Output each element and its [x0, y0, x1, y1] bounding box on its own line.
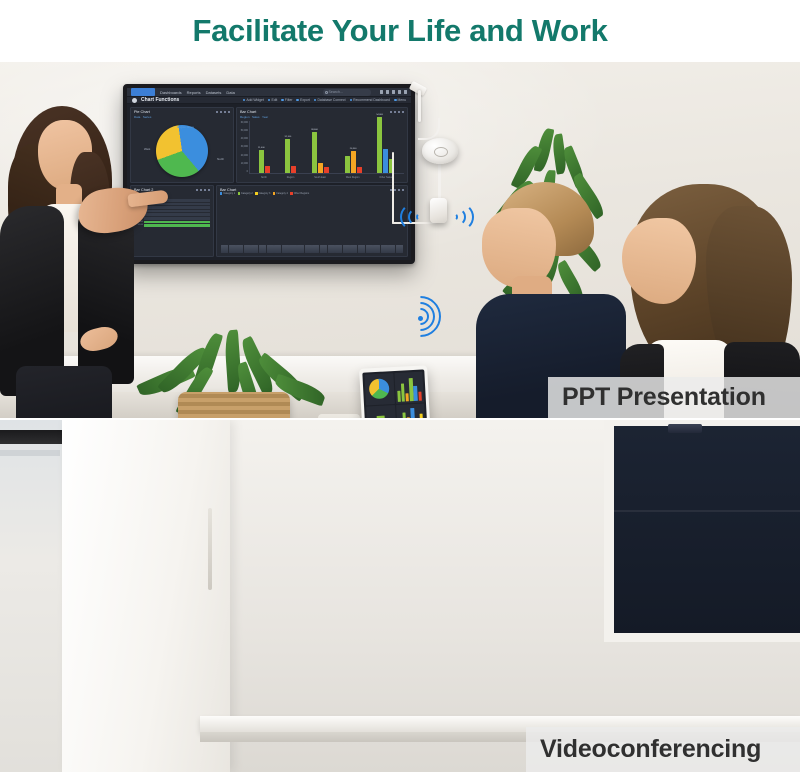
wall-cable-vertical: [392, 152, 394, 224]
pie-annotation: Region Share: [177, 125, 194, 129]
tablet-bars: [396, 375, 422, 402]
tablet-row: [364, 372, 424, 405]
table-row: 30.00: [134, 217, 210, 220]
dashboard-title: Chart Functions: [141, 97, 179, 103]
videoconferencing-caption-text: Videoconferencing: [540, 735, 761, 764]
nav-item-dashboards[interactable]: Dashboards: [160, 90, 182, 95]
toolbar-menu[interactable]: Menu: [394, 98, 406, 102]
dashboard-body: Pie Chart Data Series: [127, 104, 411, 260]
table-cell: [144, 217, 210, 220]
bar-sub-region[interactable]: Region: [240, 115, 250, 119]
ceiling-beam: [0, 430, 66, 444]
xtick-0: North: [261, 176, 267, 179]
bar: 38,600: [312, 132, 317, 173]
bar-value: 20,300: [350, 148, 357, 150]
refresh-icon[interactable]: [390, 111, 392, 113]
bar-group-4: 20,300: [345, 151, 362, 173]
filter-icon[interactable]: [220, 111, 222, 113]
pie-chart-plot: Region Share West North: [131, 119, 233, 182]
dashboard-navbar: Dashboards Reports Datasets Data Search.…: [127, 88, 411, 97]
bar: 21,400: [259, 150, 264, 173]
bar2-card-controls: [196, 189, 210, 191]
toolbar-filter[interactable]: Filter: [281, 98, 292, 102]
bar-value: 32,100: [285, 136, 292, 138]
page-title: Facilitate Your Life and Work: [192, 13, 607, 49]
legend-label: Category 3: [259, 192, 271, 195]
stacked-bar-tick: [381, 245, 388, 253]
stacked-bar-tick: [282, 245, 289, 253]
bar: 32,100: [285, 139, 290, 173]
search-icon: [325, 91, 328, 94]
xtick-1: Region: [287, 176, 295, 179]
product-feature-image: Facilitate Your Life and Work: [0, 0, 800, 772]
toolbar-recommend-label: Recommend Dashboard: [353, 98, 390, 102]
door-handle[interactable]: [208, 508, 212, 590]
bar: 54,800: [377, 117, 382, 173]
filter-icon[interactable]: [394, 111, 396, 113]
xtick-4: Other Sales: [379, 176, 392, 179]
bar-sub-sales[interactable]: Sales: [252, 115, 260, 119]
stacked-bar-tick: [373, 245, 380, 253]
stacked-bar-x-ticks: [221, 245, 403, 253]
bar: [383, 149, 388, 173]
stacked-bar-tick: [335, 245, 342, 253]
tablet-pie-graphic: [369, 379, 390, 400]
bar: [324, 167, 329, 173]
hdmi-cable-lower: [438, 162, 441, 200]
edit-icon[interactable]: [386, 90, 390, 94]
videoconferencing-caption-ribbon: Videoconferencing: [526, 727, 800, 772]
stacked-bar-tick: [366, 245, 373, 253]
ytick-2: 20,000: [241, 154, 248, 157]
toolbar-menu-label: Menu: [398, 98, 406, 102]
legend-item: Category 3: [255, 192, 270, 195]
bar-chart-x-labels: North Region South East West Region Othe…: [251, 176, 402, 179]
ytick-3: 30,000: [241, 145, 248, 148]
stacked-bar-tick: [267, 245, 274, 253]
wifi-signal-icon: [398, 294, 442, 324]
dashboard-row-top: Pie Chart Data Series: [130, 107, 408, 183]
stacked-bar-plot: [220, 197, 404, 253]
stacked-bar-tick: [259, 245, 266, 253]
wifi-signal-icon: [446, 200, 478, 234]
tablet-bar-card: [394, 372, 424, 404]
stacked-bar-card[interactable]: Bar Chart Category 1 Category 2 Category…: [216, 185, 408, 257]
grid-icon[interactable]: [380, 90, 384, 94]
dongle-receiver-tip: [430, 198, 447, 223]
bar: 20,300: [351, 151, 356, 173]
stacked-bar-tick: [350, 245, 357, 253]
headline-bar: Facilitate Your Life and Work: [0, 0, 800, 62]
bar: [318, 163, 323, 173]
table-row: 10.00: [134, 224, 210, 227]
bar-value: 38,600: [311, 129, 318, 131]
bar-group-2: 32,100: [285, 139, 296, 173]
ytick-0: 0: [247, 170, 248, 173]
expand-icon[interactable]: [398, 111, 400, 113]
tablet-device[interactable]: [359, 365, 431, 418]
bar: [265, 166, 270, 173]
table-cell: [144, 210, 210, 213]
legend-label: Category 1: [223, 192, 235, 195]
dashboard-toolbar: Add Widget Edit Filter Export Database C…: [243, 98, 406, 102]
pie-chart-card[interactable]: Pie Chart Data Series: [130, 107, 234, 183]
ytick-1: 10,000: [241, 162, 248, 165]
more-icon[interactable]: [402, 189, 404, 191]
nav-item-datasets[interactable]: Datasets: [206, 90, 222, 95]
more-icon[interactable]: [228, 111, 230, 113]
tablet-pie-card: [364, 373, 394, 405]
bar: [291, 166, 296, 173]
refresh-icon[interactable]: [196, 189, 198, 191]
navbar-icon-group: [380, 90, 408, 94]
more-icon[interactable]: [402, 111, 404, 113]
legend-item: Category 2: [238, 192, 253, 195]
expand-icon[interactable]: [224, 111, 226, 113]
xtick-2: South East: [314, 176, 326, 179]
bar-chart-card[interactable]: Bar Chart Region Sales Year: [236, 107, 408, 183]
stacked-bar-tick: [274, 245, 281, 253]
dashboard-screen: Dashboards Reports Datasets Data Search.…: [127, 88, 411, 260]
toolbar-database-connect[interactable]: Database Connect: [314, 98, 346, 102]
expand-icon[interactable]: [204, 189, 206, 191]
table-cell: [144, 224, 210, 227]
table-cell: [144, 206, 210, 209]
tablet-bars: [398, 406, 424, 418]
pie-label-north: North: [217, 157, 224, 161]
wireless-hdmi-dongle[interactable]: [422, 138, 458, 164]
toolbar-export[interactable]: Export: [296, 98, 309, 102]
dark-panel-frame: [604, 420, 800, 642]
search-input[interactable]: Search...: [323, 89, 371, 96]
tablet-row: [366, 403, 426, 418]
bar-chart-plot: 60,000 50,000 40,000 30,000 20,000 10,00…: [249, 121, 404, 179]
help-icon[interactable]: [398, 90, 402, 94]
pie-label-west: West: [144, 147, 150, 151]
stacked-bar-tick: [312, 245, 319, 253]
nav-item-data[interactable]: Data: [226, 90, 234, 95]
bar-chart-axis-line-y: [249, 121, 250, 173]
stacked-bar-tick: [320, 245, 327, 253]
refresh-icon[interactable]: [216, 111, 218, 113]
presenter-trousers: [16, 366, 112, 418]
stacked-bar-tick: [244, 245, 251, 253]
table-row: 20.00: [134, 221, 210, 224]
nav-item-reports[interactable]: Reports: [187, 90, 201, 95]
toolbar-add-widget[interactable]: Add Widget: [243, 98, 264, 102]
ppt-caption-text: PPT Presentation: [562, 383, 766, 412]
legend-label: Category 4: [276, 192, 288, 195]
share-icon[interactable]: [392, 90, 396, 94]
toolbar-recommend-dashboard[interactable]: Recommend Dashboard: [350, 98, 390, 102]
bar: [357, 167, 362, 173]
xtick-3: West Region: [346, 176, 360, 179]
bar-card-controls: [390, 111, 404, 113]
ceiling-light: [668, 424, 702, 433]
ppt-presentation-panel: Dashboards Reports Datasets Data Search.…: [0, 62, 800, 418]
bar-sub-year[interactable]: Year: [262, 115, 268, 119]
dashboard-title-row: Chart Functions Add Widget Edit Filter E…: [127, 97, 411, 104]
bar-chart-bars: 21,400 32,100 38,600: [251, 123, 402, 173]
stacked-bar-tick: [251, 245, 258, 253]
ytick-4: 40,000: [241, 137, 248, 140]
wifi-signal-icon: [396, 200, 428, 234]
stacked-bar-tick: [388, 245, 395, 253]
tablet-screen-dashboard: [362, 369, 427, 418]
bar-chart-axis-line-x: [249, 173, 404, 174]
woven-basket-planter: [178, 392, 290, 418]
presenter-woman: [0, 100, 136, 418]
presenter-jacket-right: [78, 208, 134, 384]
ytick-5: 50,000: [241, 129, 248, 132]
legend-item: Other Regions: [290, 192, 309, 195]
stack-legend: Category 1 Category 2 Category 3 Categor…: [217, 192, 407, 195]
bar-group-1: 21,400: [259, 150, 270, 173]
toolbar-edit-label: Edit: [271, 98, 277, 102]
stacked-bar-tick: [236, 245, 243, 253]
bar-chart-y-axis: 60,000 50,000 40,000 30,000 20,000 10,00…: [238, 121, 248, 173]
tablet-table-card: [366, 405, 396, 418]
toolbar-add-widget-label: Add Widget: [246, 98, 264, 102]
toolbar-filter-label: Filter: [285, 98, 293, 102]
table-cell: [144, 221, 210, 224]
bar: [345, 156, 350, 173]
small-plant-pot: [318, 414, 360, 418]
expand-icon[interactable]: [398, 189, 400, 191]
stacked-bar-tick: [221, 245, 228, 253]
toolbar-database-connect-label: Database Connect: [317, 98, 345, 102]
ppt-caption-ribbon: PPT Presentation: [548, 377, 800, 418]
toolbar-edit[interactable]: Edit: [268, 98, 277, 102]
dashboard-row-bottom: Bar Chart 2 Table Values: [130, 185, 408, 257]
bar-value: 54,800: [376, 114, 383, 116]
more-icon[interactable]: [208, 189, 210, 191]
stacked-bar-tick: [289, 245, 296, 253]
filter-icon[interactable]: [200, 189, 202, 191]
videoconferencing-panel: [0, 420, 800, 772]
pie-card-controls: [216, 111, 230, 113]
stacked-bar-tick: [358, 245, 365, 253]
ytick-6: 60,000: [241, 121, 248, 124]
table-cell: [144, 213, 210, 216]
stacked-bars: [221, 203, 403, 244]
legend-item: Category 4: [273, 192, 288, 195]
legend-item: Category 1: [220, 192, 235, 195]
stacked-bar-tick: [396, 245, 403, 253]
stacked-bar-tick: [229, 245, 236, 253]
tablet-stacked-card: [396, 403, 426, 418]
stacked-bar-tick: [343, 245, 350, 253]
search-placeholder: Search...: [329, 90, 343, 94]
vc-left-background: [0, 420, 70, 772]
stacked-bar-tick: [297, 245, 304, 253]
dashboard-logo: [131, 88, 155, 96]
legend-label: Category 2: [241, 192, 253, 195]
bar-group-3: 38,600: [312, 132, 329, 173]
ceiling-beam-secondary: [0, 450, 60, 456]
toolbar-export-label: Export: [300, 98, 310, 102]
bar-value: 21,400: [258, 147, 265, 149]
user-icon[interactable]: [404, 90, 408, 94]
wall-mounted-display[interactable]: Dashboards Reports Datasets Data Search.…: [123, 84, 415, 264]
stacked-bar-tick: [305, 245, 312, 253]
pie-chart-graphic: [156, 125, 208, 177]
stacked-bar-tick: [328, 245, 335, 253]
tablet-bars: [368, 408, 394, 418]
legend-label: Other Regions: [294, 192, 309, 195]
